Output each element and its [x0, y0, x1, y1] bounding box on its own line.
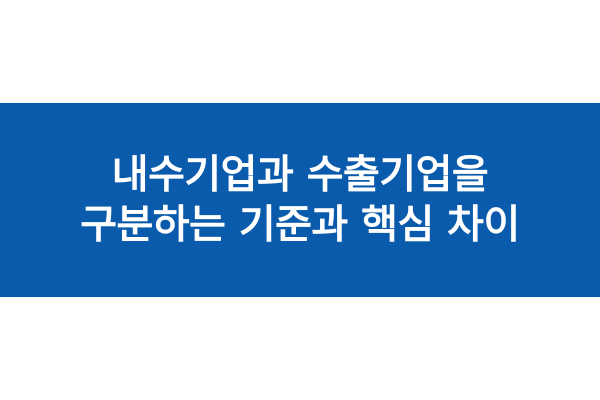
title-banner: 내수기업과 수출기업을 구분하는 기준과 핵심 차이: [0, 103, 600, 297]
title-line-2: 구분하는 기준과 핵심 차이: [80, 200, 520, 250]
bottom-whitespace: [0, 297, 600, 400]
top-whitespace: [0, 0, 600, 103]
page-canvas: 내수기업과 수출기업을 구분하는 기준과 핵심 차이: [0, 0, 600, 400]
title-line-1: 내수기업과 수출기업을: [80, 150, 520, 200]
page-title: 내수기업과 수출기업을 구분하는 기준과 핵심 차이: [80, 150, 520, 250]
